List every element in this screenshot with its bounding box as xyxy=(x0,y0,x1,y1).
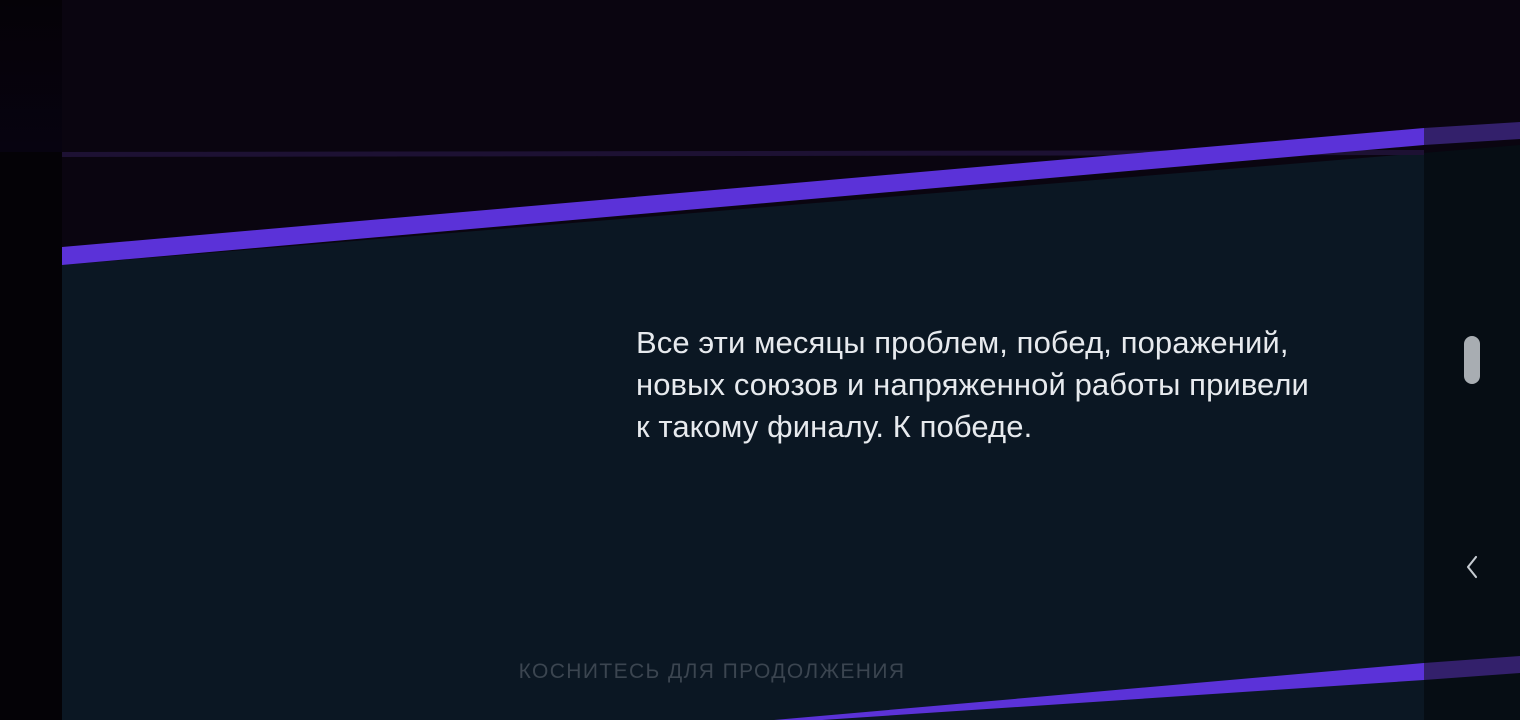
dialogue-body-text: Все эти месяцы проблем, побед, поражений… xyxy=(636,322,1316,448)
scrollbar-thumb[interactable] xyxy=(1464,336,1480,384)
game-screen: KINGSLAYER ВРЕМЕННАЯ СЕРИЯ 7 МАРТА - 14 … xyxy=(0,0,1520,720)
tap-to-continue-prompt[interactable]: КОСНИТЕСЬ ДЛЯ ПРОДОЛЖЕНИЯ xyxy=(0,660,1424,684)
chevron-left-icon xyxy=(1463,553,1481,581)
back-button[interactable] xyxy=(1452,547,1492,587)
